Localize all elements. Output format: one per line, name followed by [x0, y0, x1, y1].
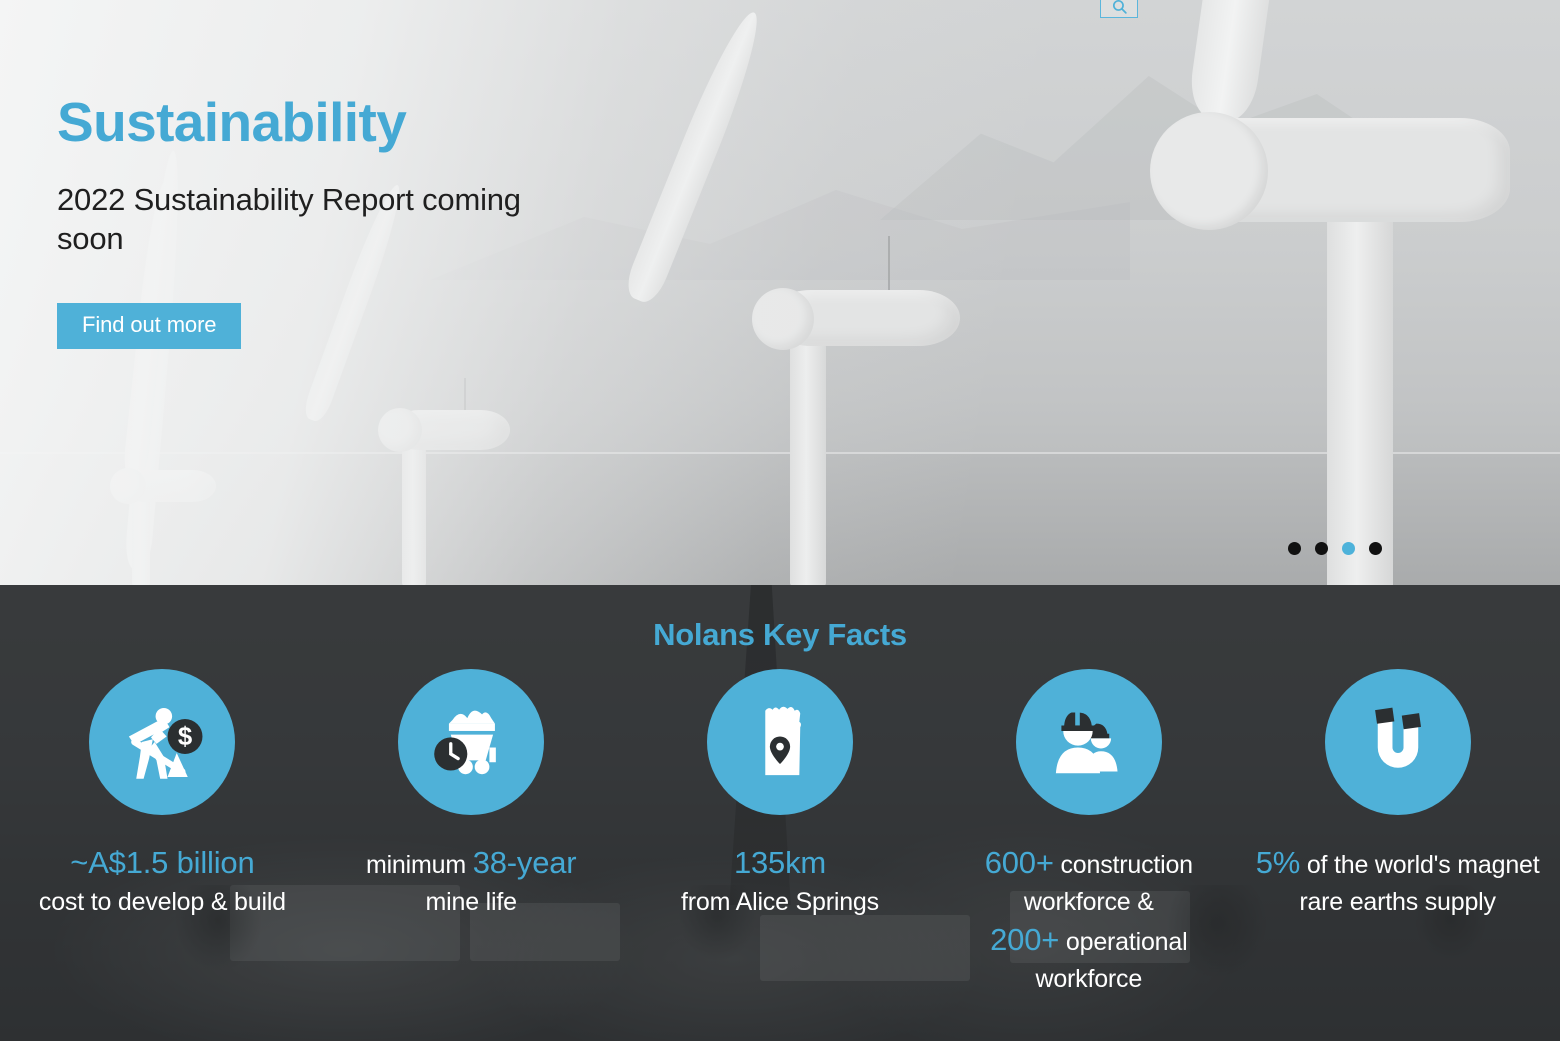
key-fact-text: ~A$1.5 billion cost to develop & build: [33, 842, 292, 919]
carousel-dot-2[interactable]: [1315, 542, 1328, 555]
search-icon: [1111, 0, 1128, 15]
hard-hat-workers-icon: [1043, 696, 1135, 788]
key-fact-body: mine life: [426, 888, 517, 916]
northern-territory-map-pin-icon: [734, 696, 826, 788]
key-fact-highlight: ~A$1.5 billion: [70, 845, 254, 880]
key-fact-item: 600+ construction workforce & 200+ opera…: [934, 669, 1243, 997]
carousel-dot-1[interactable]: [1288, 542, 1301, 555]
page-root: Sustainability 2022 Sustainability Repor…: [0, 0, 1560, 1041]
hero-copy: Sustainability 2022 Sustainability Repor…: [57, 94, 577, 349]
key-fact-item: $ ~A$1.5 billion cost to develop & build: [8, 669, 317, 997]
magnet-icon: [1352, 696, 1444, 788]
carousel-dot-4[interactable]: [1369, 542, 1382, 555]
key-facts-heading: Nolans Key Facts: [0, 585, 1560, 653]
key-fact-highlight: 600+: [985, 845, 1054, 880]
key-facts-grid: $ ~A$1.5 billion cost to develop & build: [0, 669, 1560, 997]
key-fact-item: minimum 38-year mine life: [317, 669, 626, 997]
find-out-more-button[interactable]: Find out more: [57, 303, 241, 349]
search-button[interactable]: [1100, 0, 1138, 18]
key-facts-section: Nolans Key Facts $: [0, 585, 1560, 1041]
key-fact-text: minimum 38-year mine life: [360, 842, 582, 919]
key-fact-item: 5% of the world's magnet rare earths sup…: [1243, 669, 1552, 997]
key-fact-body-2: operational workforce: [1036, 928, 1188, 993]
key-fact-highlight: 135km: [734, 845, 826, 880]
key-fact-text: 5% of the world's magnet rare earths sup…: [1243, 842, 1552, 919]
key-fact-highlight: 5%: [1256, 845, 1300, 880]
key-fact-item: 135km from Alice Springs: [626, 669, 935, 997]
key-fact-icon-circle: [398, 669, 544, 815]
hero-subtitle: 2022 Sustainability Report coming soon: [57, 180, 577, 259]
hero-banner: Sustainability 2022 Sustainability Repor…: [0, 0, 1560, 585]
key-fact-body: of the world's magnet rare earths supply: [1299, 851, 1539, 916]
key-fact-body: from Alice Springs: [681, 888, 879, 916]
worker-digging-dollar-icon: $: [116, 696, 208, 788]
key-fact-icon-circle: [1325, 669, 1471, 815]
key-fact-icon-circle: [707, 669, 853, 815]
svg-text:$: $: [178, 723, 192, 751]
key-fact-body: cost to develop & build: [39, 888, 286, 916]
carousel-dot-3[interactable]: [1342, 542, 1355, 555]
page-title: Sustainability: [57, 94, 577, 152]
mine-cart-clock-icon: [425, 696, 517, 788]
key-fact-icon-circle: [1016, 669, 1162, 815]
key-fact-icon-circle: $: [89, 669, 235, 815]
key-fact-highlight: 38-year: [473, 845, 577, 880]
key-fact-highlight-2: 200+: [990, 922, 1059, 957]
key-fact-text: 135km from Alice Springs: [675, 842, 885, 919]
key-fact-prefix: minimum: [366, 851, 473, 879]
carousel-dots: [1288, 542, 1382, 555]
key-fact-text: 600+ construction workforce & 200+ opera…: [934, 842, 1243, 997]
